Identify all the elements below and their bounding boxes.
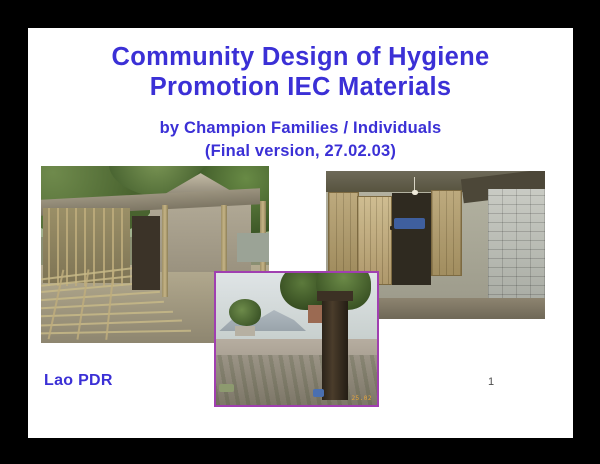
title-line-1: Community Design of Hygiene	[28, 42, 573, 72]
subtitle-line-1: by Champion Families / Individuals	[28, 117, 573, 140]
page-subtitle: by Champion Families / Individuals (Fina…	[28, 117, 573, 163]
page-number: 1	[488, 376, 494, 388]
title-line-2: Promotion IEC Materials	[28, 72, 573, 102]
presentation-slide: Community Design of Hygiene Promotion IE…	[28, 28, 573, 438]
photo-timestamp: 25.02	[351, 395, 372, 402]
slide-frame: Community Design of Hygiene Promotion IE…	[0, 0, 600, 464]
photo-center-scene: 25.02	[216, 273, 377, 405]
footer-country-label: Lao PDR	[44, 372, 113, 390]
photo-center: 25.02	[214, 271, 379, 407]
subtitle-line-2: (Final version, 27.02.03)	[28, 140, 573, 163]
page-title: Community Design of Hygiene Promotion IE…	[28, 42, 573, 102]
